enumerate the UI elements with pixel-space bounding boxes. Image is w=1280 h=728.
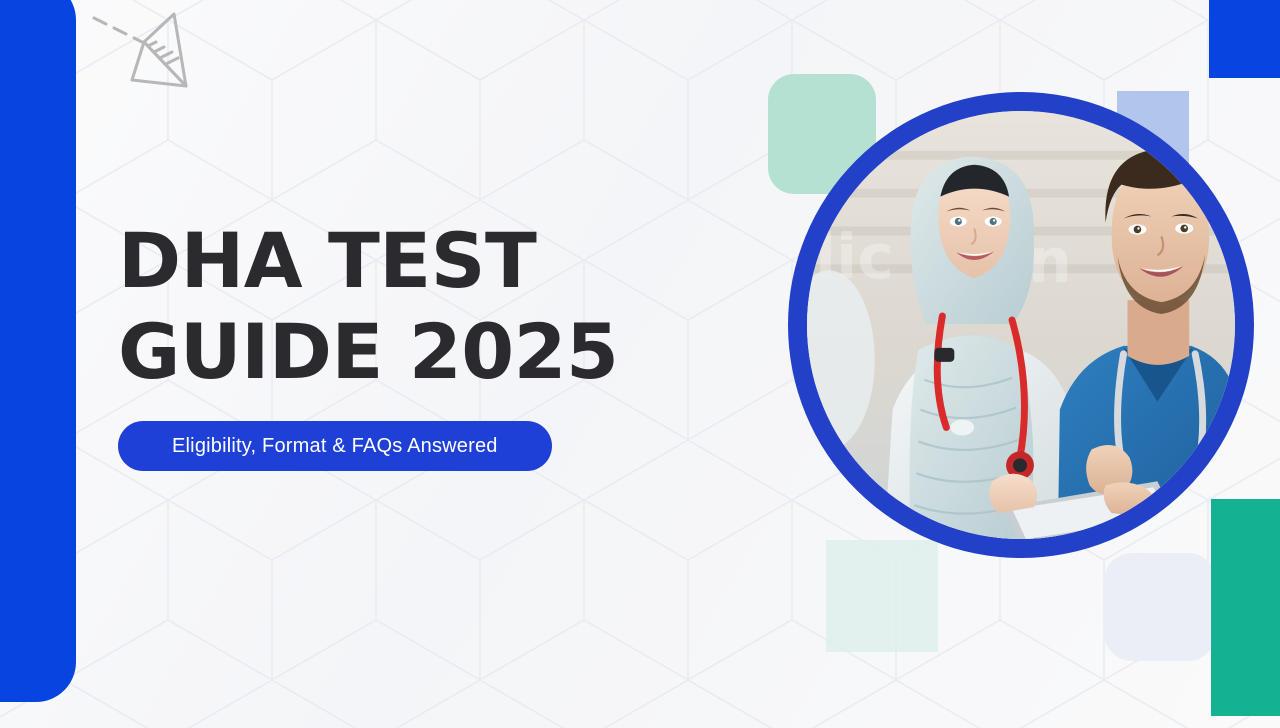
paper-plane-icon (86, 4, 246, 100)
hero-content: DHA TEST GUIDE 2025 Eligibility, Format … (118, 215, 738, 471)
photo-ring: lic en (788, 92, 1254, 558)
subtitle-pill[interactable]: Eligibility, Format & FAQs Answered (118, 421, 552, 471)
blue-square (1209, 0, 1280, 78)
teal-rectangle (1211, 499, 1280, 716)
mint-soft-square (826, 540, 938, 652)
page-title: DHA TEST GUIDE 2025 (118, 215, 738, 397)
left-blue-bar (0, 0, 76, 702)
healthcare-team-photo: lic en (807, 111, 1235, 539)
hero-banner: lic en (0, 0, 1280, 728)
lavender-rounded-square (1104, 553, 1216, 661)
